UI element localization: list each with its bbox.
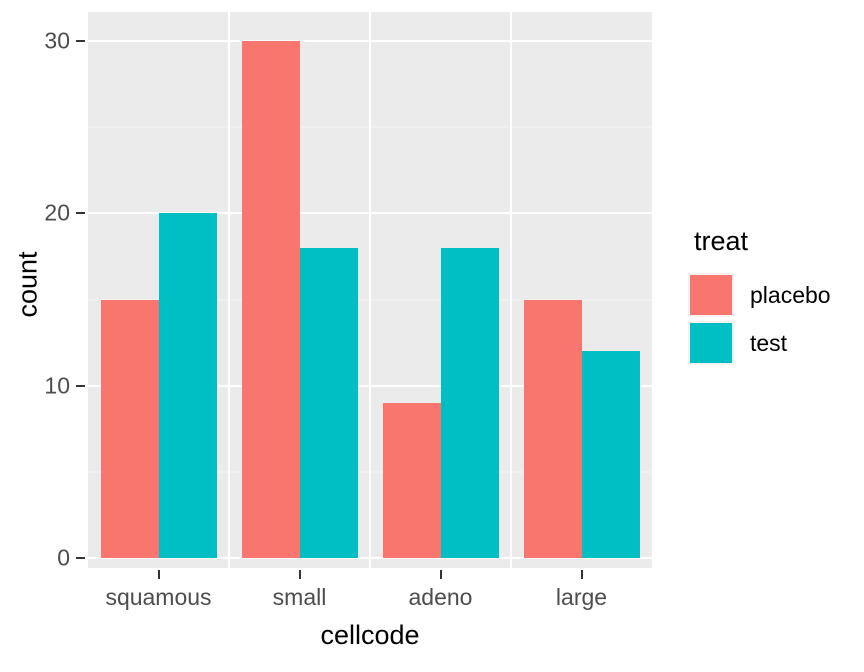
x-tick-mark [158,570,160,579]
grid-major-line-vertical [369,12,371,568]
y-tick-mark [76,385,85,387]
x-tick-mark [581,570,583,579]
bar [582,351,640,558]
legend-label: test [750,332,787,355]
bar [441,248,499,558]
bar-chart: count 0102030 squamoussmalladenolarge ce… [0,0,864,672]
legend-item: test [688,321,831,365]
y-tick-label: 30 [0,30,70,53]
bar [524,300,582,558]
bar [242,41,300,558]
legend-color-swatch [690,323,732,363]
bar [101,300,159,558]
bar [383,403,441,558]
x-tick-label: large [556,586,607,609]
grid-major-line-vertical [228,12,230,568]
legend-label: placebo [750,284,831,307]
bar [159,213,217,558]
x-tick-label: adeno [409,586,473,609]
grid-major-line-vertical [510,12,512,568]
y-tick-mark [76,40,85,42]
legend-key [688,273,734,317]
bar [300,248,358,558]
x-axis-title: cellcode [88,622,652,649]
plot-panel [88,12,652,568]
y-tick-mark [76,557,85,559]
legend: treat placebotest [688,228,831,369]
y-axis-title-text: count [15,251,42,317]
x-tick-label: squamous [105,586,211,609]
y-tick-mark [76,212,85,214]
legend-key [688,321,734,365]
y-tick-label: 10 [0,374,70,397]
x-tick-label: small [273,586,327,609]
legend-color-swatch [690,275,732,315]
y-tick-label: 20 [0,202,70,225]
x-tick-mark [299,570,301,579]
y-tick-label: 0 [0,547,70,570]
y-axis-title: count [8,0,48,568]
legend-items: placebotest [688,273,831,365]
legend-title: treat [694,228,831,255]
x-tick-mark [440,570,442,579]
legend-item: placebo [688,273,831,317]
